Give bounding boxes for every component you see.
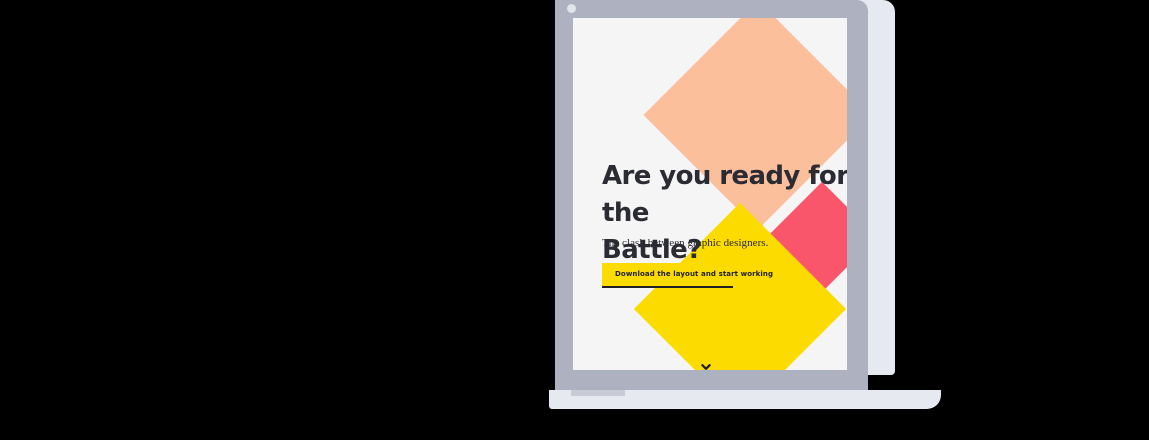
download-layout-button[interactable]: Download the layout and start working <box>602 263 786 286</box>
webcam-icon <box>567 4 576 13</box>
hero-subtitle: The clash between graphic designers. <box>602 237 768 249</box>
page-title: Are you ready for the Battle? <box>602 158 847 269</box>
laptop-base-notch <box>571 390 625 396</box>
hero-section: Are you ready for the Battle? The clash … <box>573 18 847 370</box>
scene-backdrop: Are you ready for the Battle? The clash … <box>0 0 1149 440</box>
chevron-down-icon[interactable] <box>699 360 713 370</box>
laptop-screen: Are you ready for the Battle? The clash … <box>573 18 847 370</box>
cta-container: Download the layout and start working <box>602 263 786 286</box>
cta-underline <box>602 286 733 288</box>
laptop-lid: Are you ready for the Battle? The clash … <box>555 0 868 375</box>
laptop-base-edge <box>555 375 868 390</box>
laptop-mockup: Are you ready for the Battle? The clash … <box>555 0 975 410</box>
